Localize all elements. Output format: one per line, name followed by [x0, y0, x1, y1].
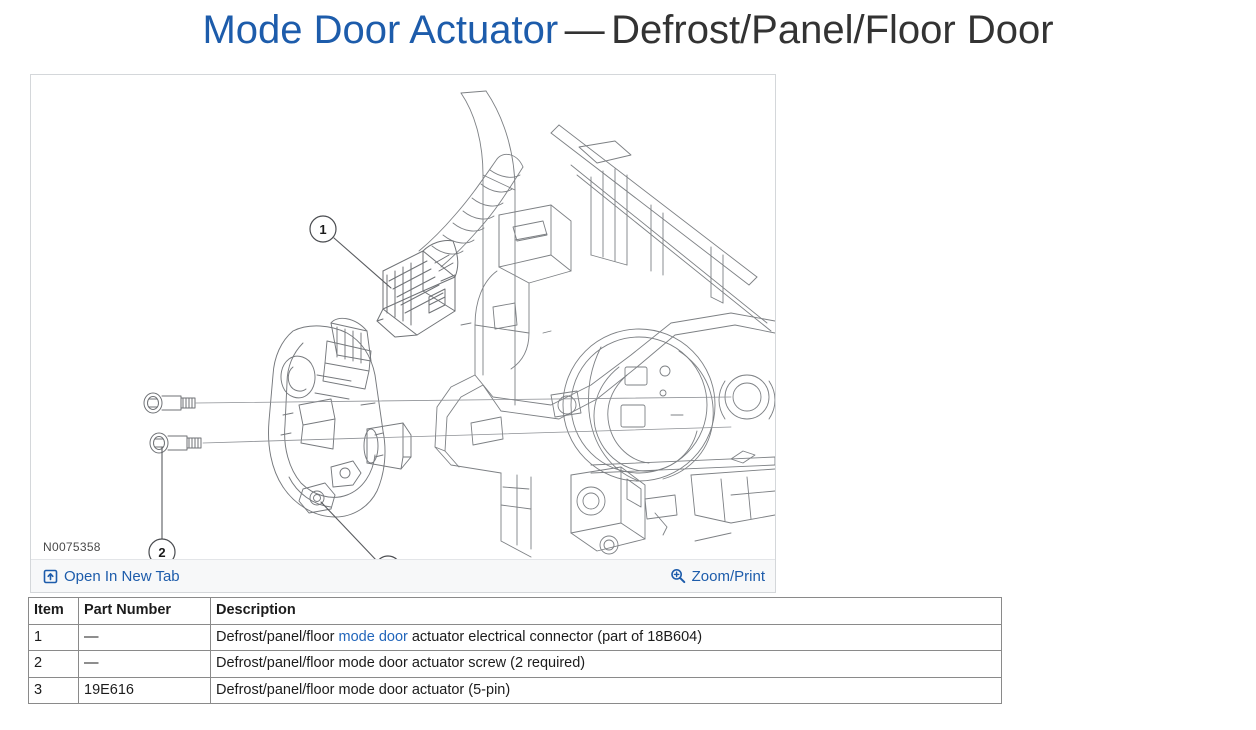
cell-item: 3 [29, 677, 79, 704]
mode-door-actuator-drawing [269, 318, 411, 517]
table-row: 3 19E616 Defrost/panel/floor mode door a… [29, 677, 1002, 704]
hvac-housing-drawing [435, 91, 775, 557]
callout-number-1: 1 [319, 222, 326, 237]
wire-harness-drawing [419, 154, 523, 267]
magnifier-plus-icon [670, 568, 686, 584]
page-title-main: Mode Door Actuator [202, 8, 558, 52]
callout-leader-lines [162, 238, 391, 559]
page-title-separator: — [563, 8, 607, 52]
open-in-new-tab-button[interactable]: Open In New Tab [41, 566, 182, 587]
parts-table: Item Part Number Description 1 — Defrost… [28, 597, 1002, 704]
page-title-sub: Defrost/Panel/Floor Door [611, 8, 1053, 52]
image-toolbar: Open In New Tab Zoom/Print [31, 559, 775, 592]
zoom-print-button[interactable]: Zoom/Print [668, 566, 767, 587]
mode-door-link[interactable]: mode door [339, 629, 408, 645]
page-root: Mode Door Actuator — Defrost/Panel/Floor… [0, 0, 1256, 730]
description-text-after: actuator electrical connector (part of 1… [408, 629, 702, 645]
column-header-part-number: Part Number [79, 598, 211, 625]
cell-item: 2 [29, 651, 79, 678]
exploded-view-diagram: 1 2 3 [31, 75, 775, 559]
electrical-connector-drawing [377, 240, 458, 337]
column-header-item: Item [29, 598, 79, 625]
cell-description: Defrost/panel/floor mode door actuator (… [211, 677, 1002, 704]
figure-canvas: 1 2 3 [31, 75, 775, 559]
figure-id-label: N0075358 [43, 540, 101, 554]
cell-part-number: — [79, 651, 211, 678]
table-header-row: Item Part Number Description [29, 598, 1002, 625]
page-title: Mode Door Actuator — Defrost/Panel/Floor… [0, 8, 1256, 53]
zoom-print-label: Zoom/Print [692, 568, 765, 585]
cell-description: Defrost/panel/floor mode door actuator e… [211, 624, 1002, 651]
description-text-before: Defrost/panel/floor [216, 629, 339, 645]
description-text-before: Defrost/panel/floor mode door actuator (… [216, 682, 510, 698]
figure-panel: 1 2 3 N0075358 Open In New Tab [30, 74, 776, 593]
open-in-new-tab-label: Open In New Tab [64, 568, 180, 585]
cell-part-number: 19E616 [79, 677, 211, 704]
table-row: 2 — Defrost/panel/floor mode door actuat… [29, 651, 1002, 678]
callout-number-2: 2 [158, 545, 165, 559]
actuator-screw-lower [150, 433, 201, 453]
cell-part-number: — [79, 624, 211, 651]
description-text-before: Defrost/panel/floor mode door actuator s… [216, 655, 585, 671]
column-header-description: Description [211, 598, 1002, 625]
open-in-new-window-icon [43, 569, 58, 584]
cell-item: 1 [29, 624, 79, 651]
assembly-alignment-lines [196, 397, 731, 443]
actuator-screw-upper [144, 393, 195, 413]
table-row: 1 — Defrost/panel/floor mode door actuat… [29, 624, 1002, 651]
cell-description: Defrost/panel/floor mode door actuator s… [211, 651, 1002, 678]
